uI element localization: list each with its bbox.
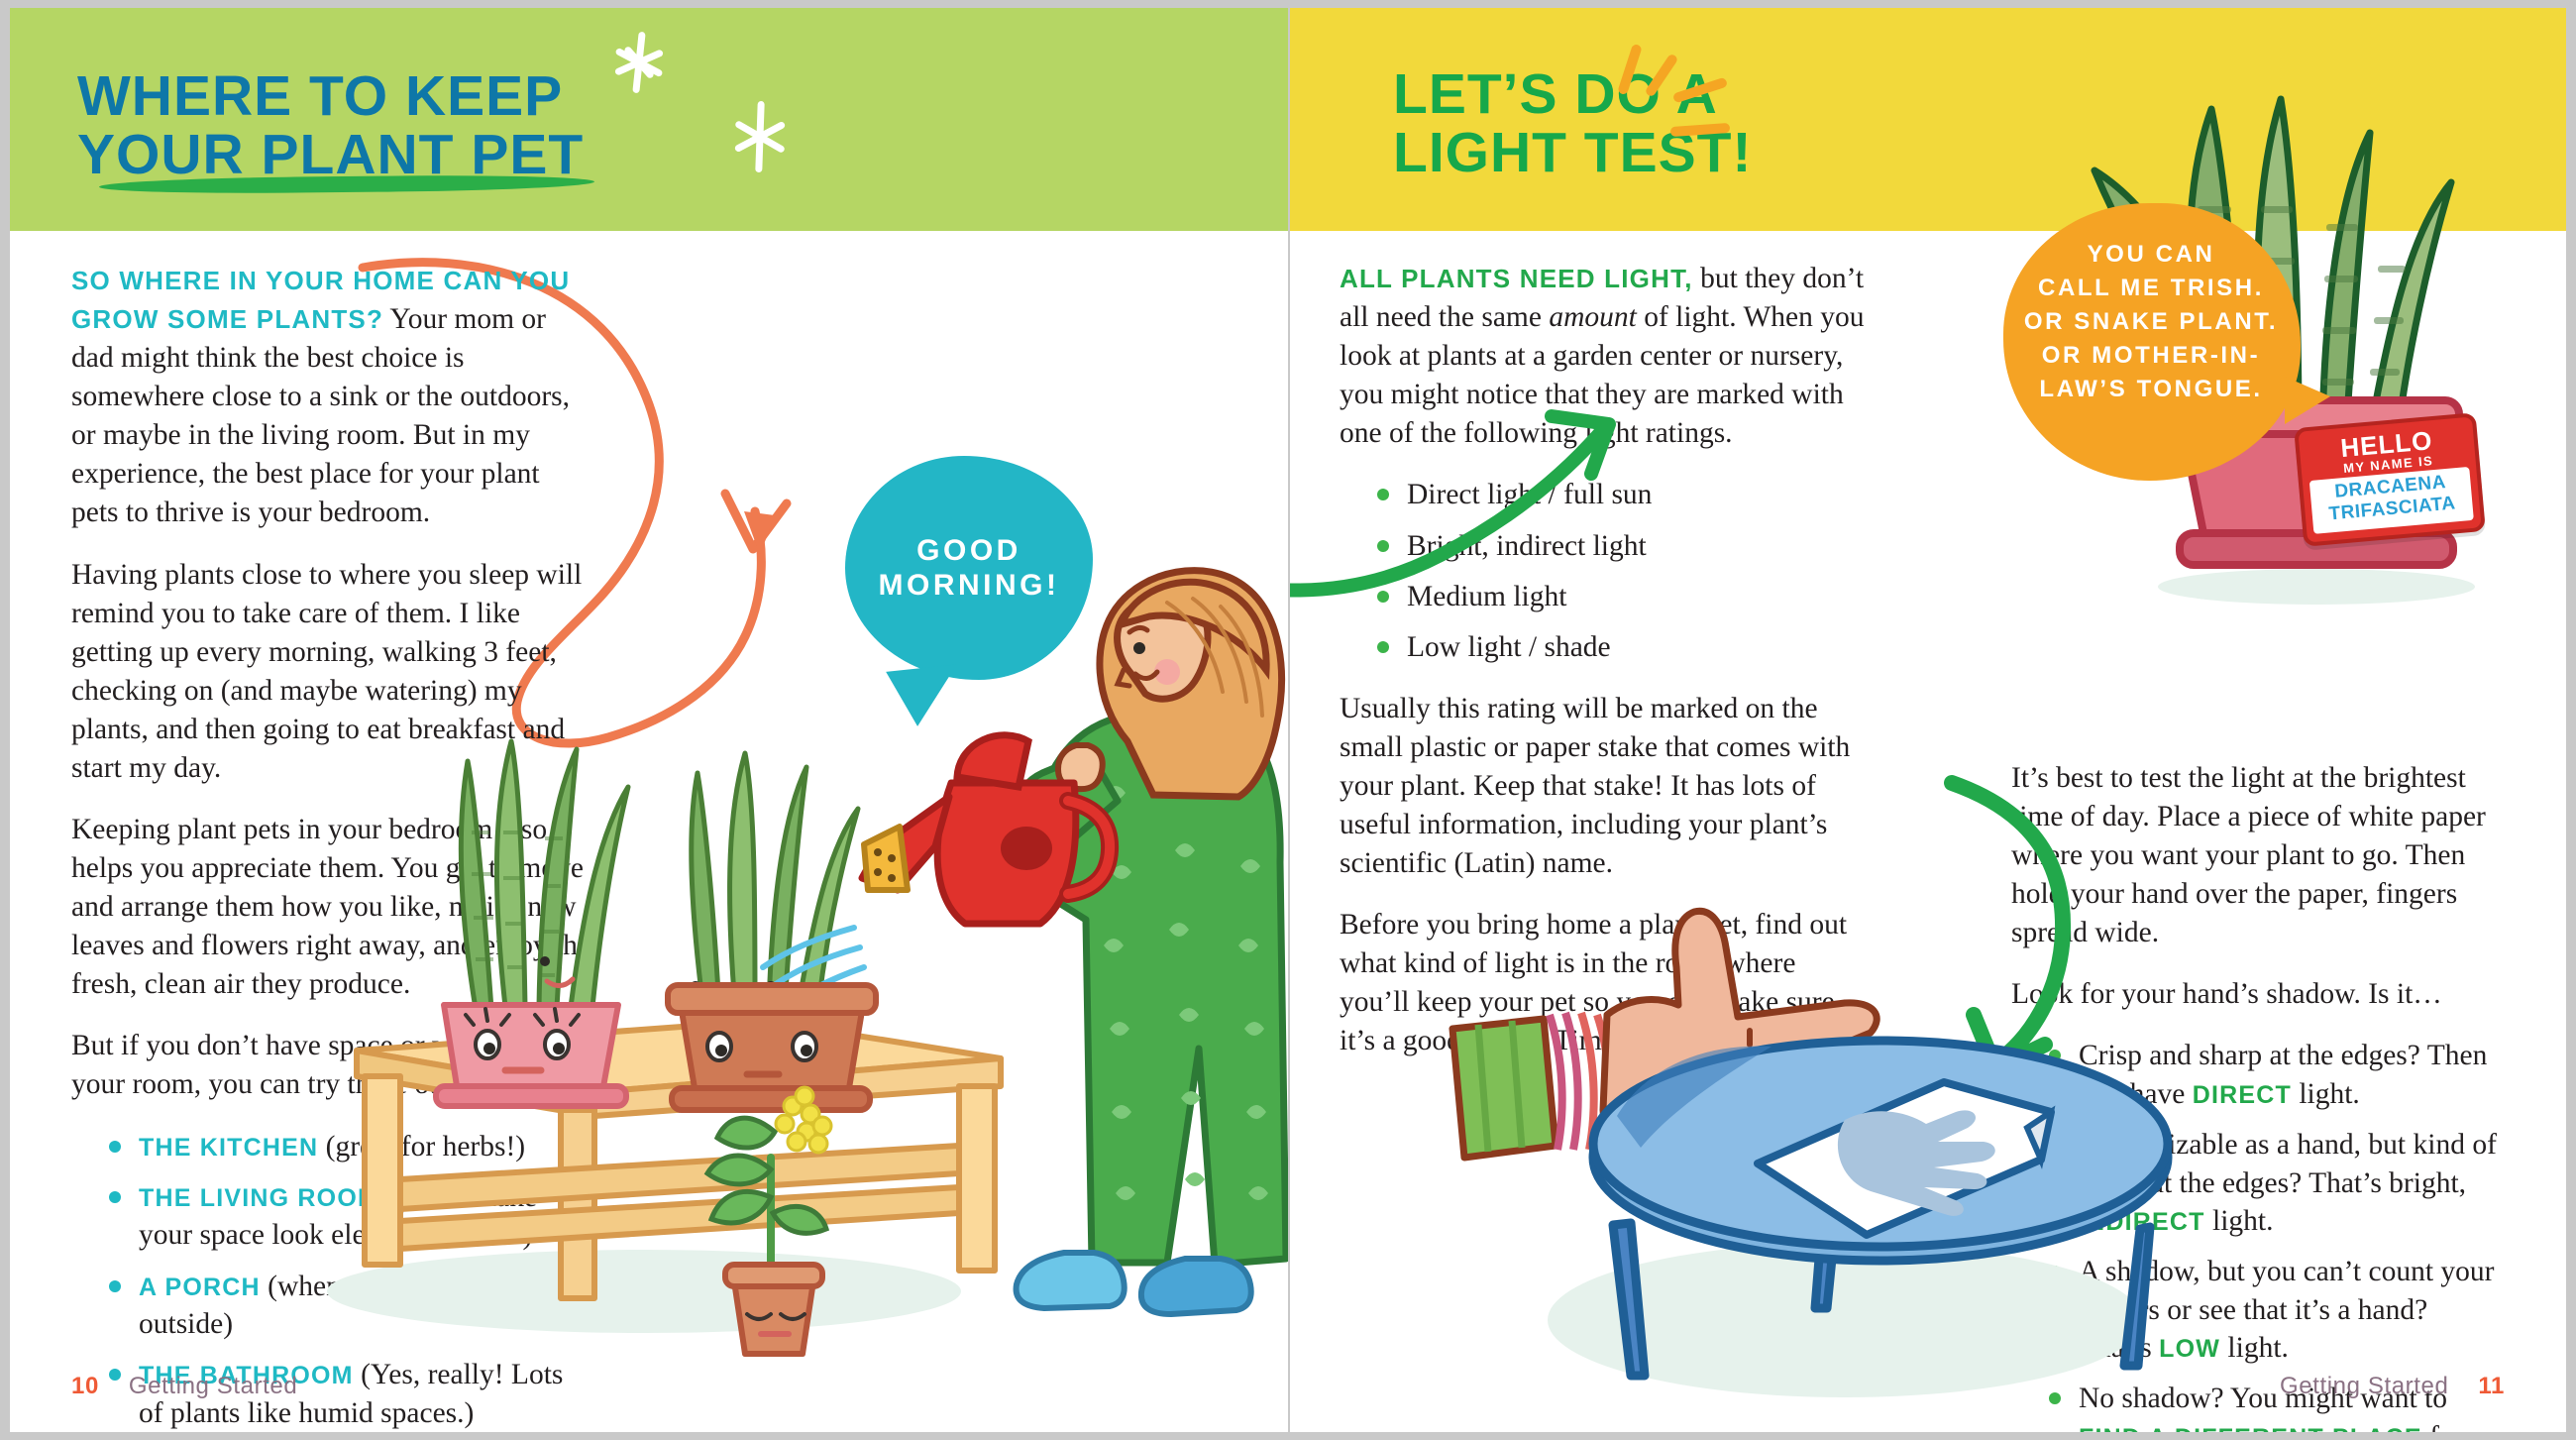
list-item: Direct light / full sun <box>1375 476 1867 513</box>
speech-bubble-text: GOOD MORNING! <box>845 533 1093 604</box>
right-footer: Getting Started11 <box>2280 1373 2505 1400</box>
list-item: Crisp and sharp at the edges? Then you h… <box>2047 1037 2497 1113</box>
check-text-b: light. <box>2205 1205 2274 1237</box>
right-body-column-2: It’s best to test the light at the brigh… <box>2011 759 2497 1432</box>
speech-bubble-text: YOU CAN CALL ME TRISH. OR SNAKE PLANT. O… <box>2013 238 2289 406</box>
left-paragraph-4: But if you don’t have space or windows i… <box>71 1027 591 1104</box>
page-number: 11 <box>2478 1373 2505 1399</box>
place-rest: (great for herbs!) <box>318 1131 525 1163</box>
page-number: 10 <box>71 1373 99 1399</box>
right-paragraph-5: Look for your hand’s shadow. Is it… <box>2011 975 2497 1014</box>
book-spread: WHERE TO KEEP YOUR PLANT PET SO WHERE IN… <box>0 0 2576 1440</box>
left-page-title: WHERE TO KEEP YOUR PLANT PET <box>77 67 584 183</box>
left-page: WHERE TO KEEP YOUR PLANT PET SO WHERE IN… <box>10 8 1288 1432</box>
speech-bubble-tail <box>886 664 963 728</box>
check-keyword: INDIRECT <box>2079 1208 2205 1236</box>
place-keyword: THE LIVING ROOM <box>139 1184 379 1212</box>
footer-section: Getting Started <box>129 1373 297 1399</box>
right-body-column-1: ALL PLANTS NEED LIGHT, but they don’t al… <box>1340 260 1867 1083</box>
list-item: Recognizable as a hand, but kind of fuzz… <box>2047 1126 2497 1240</box>
footer-section: Getting Started <box>2280 1373 2448 1399</box>
right-paragraph-2: Usually this rating will be marked on th… <box>1340 690 1867 883</box>
star-doodle-icon <box>604 28 674 97</box>
star-doodle-icon <box>725 99 795 174</box>
left-p1-rest: Your mom or dad might think the best cho… <box>71 303 570 528</box>
trish-speech-bubble: YOU CAN CALL ME TRISH. OR SNAKE PLANT. O… <box>2003 203 2301 481</box>
light-test-keyword: LIGHT TEST! <box>1683 1028 1849 1055</box>
light-ratings-list: Direct light / full sun Bright, indirect… <box>1340 476 1867 666</box>
right-paragraph-1: ALL PLANTS NEED LIGHT, but they don’t al… <box>1340 260 1867 453</box>
sunburst-icon <box>1609 38 1768 157</box>
check-keyword: LOW <box>2159 1335 2220 1363</box>
name-tag-plant-name: DRACAENA TRIFASCIATA <box>2309 470 2473 527</box>
list-item: A PORCH (when it isn’t freezing outside) <box>107 1268 591 1344</box>
left-footer: 10Getting Started <box>71 1373 297 1400</box>
place-keyword: THE KITCHEN <box>139 1134 318 1162</box>
list-item: Low light / shade <box>1375 628 1867 666</box>
check-text-a: Recognizable as a hand, but kind of fuzz… <box>2079 1129 2497 1198</box>
check-keyword: DIRECT <box>2193 1081 2292 1109</box>
left-paragraph-2: Having plants close to where you sleep w… <box>71 556 591 788</box>
list-item: A shadow, but you can’t count your finge… <box>2047 1253 2497 1367</box>
good-morning-speech-bubble: GOOD MORNING! <box>845 456 1093 680</box>
speech-bubble-tail <box>2285 377 2330 424</box>
list-item: THE LIVING ROOM (plants make your space … <box>107 1178 591 1255</box>
check-keyword: FIND A DIFFERENT PLACE <box>2079 1424 2422 1432</box>
check-text-b: light. <box>2220 1332 2289 1364</box>
left-paragraph-1: SO WHERE IN YOUR HOME CAN YOU GROW SOME … <box>71 262 591 533</box>
right-p1-emphasis: amount <box>1549 301 1637 333</box>
left-body-column: SO WHERE IN YOUR HOME CAN YOU GROW SOME … <box>71 262 591 1432</box>
list-item: THE KITCHEN (great for herbs!) <box>107 1128 591 1165</box>
right-lead-in: ALL PLANTS NEED LIGHT, <box>1340 264 1693 293</box>
right-paragraph-4: It’s best to test the light at the brigh… <box>2011 759 2497 952</box>
list-item: Medium light <box>1375 578 1867 615</box>
left-paragraph-3: Keeping plant pets in your bedroom also … <box>71 811 591 1004</box>
left-header-band: WHERE TO KEEP YOUR PLANT PET <box>10 8 1288 231</box>
place-keyword: A PORCH <box>139 1274 261 1301</box>
list-item: Bright, indirect light <box>1375 527 1867 565</box>
right-header-band: LET’S DO A LIGHT TEST! <box>1290 8 2566 231</box>
check-text-b: light. <box>2292 1078 2360 1110</box>
right-page: LET’S DO A LIGHT TEST! ALL PLANTS NEED L… <box>1290 8 2566 1432</box>
name-tag-write-area: DRACAENA TRIFASCIATA <box>2309 467 2474 534</box>
plant-name-tag: HELLO MY NAME IS DRACAENA TRIFASCIATA <box>2294 412 2486 547</box>
right-paragraph-3: Before you bring home a plant pet, find … <box>1340 906 1867 1060</box>
